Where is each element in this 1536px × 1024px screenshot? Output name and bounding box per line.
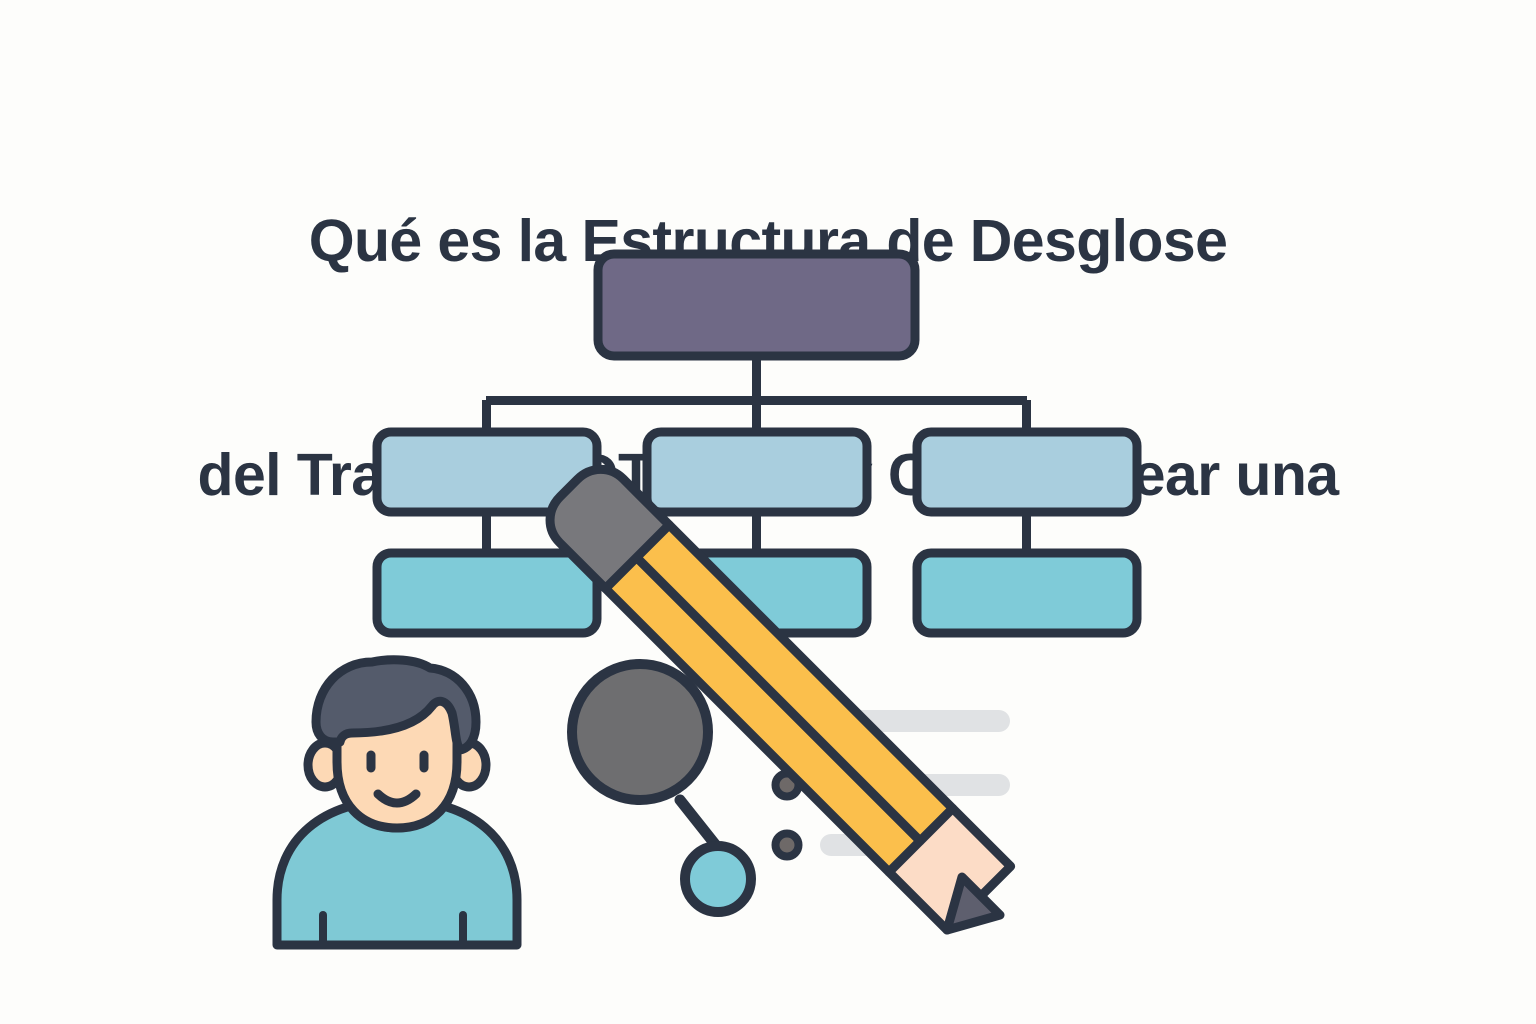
wbs-level3-node-3[interactable]: [917, 553, 1137, 633]
wbs-level2-nodes: [377, 432, 1137, 512]
wbs-level2-node-2[interactable]: [647, 432, 867, 512]
wbs-root-node[interactable]: [598, 254, 915, 356]
node-link-small-circle[interactable]: [685, 846, 751, 912]
wbs-level3-node-1[interactable]: [377, 553, 597, 633]
wbs-root-node-box[interactable]: [598, 254, 915, 356]
list-bullet-icon: [776, 834, 799, 857]
person-avatar[interactable]: [277, 660, 517, 945]
node-link-large-circle[interactable]: [572, 664, 708, 800]
wbs-level2-node-3[interactable]: [917, 432, 1137, 512]
illustration-canvas: Qué es la Estructura de Desglose del Tra…: [0, 0, 1536, 1024]
illustration-artwork: [0, 0, 1536, 1024]
